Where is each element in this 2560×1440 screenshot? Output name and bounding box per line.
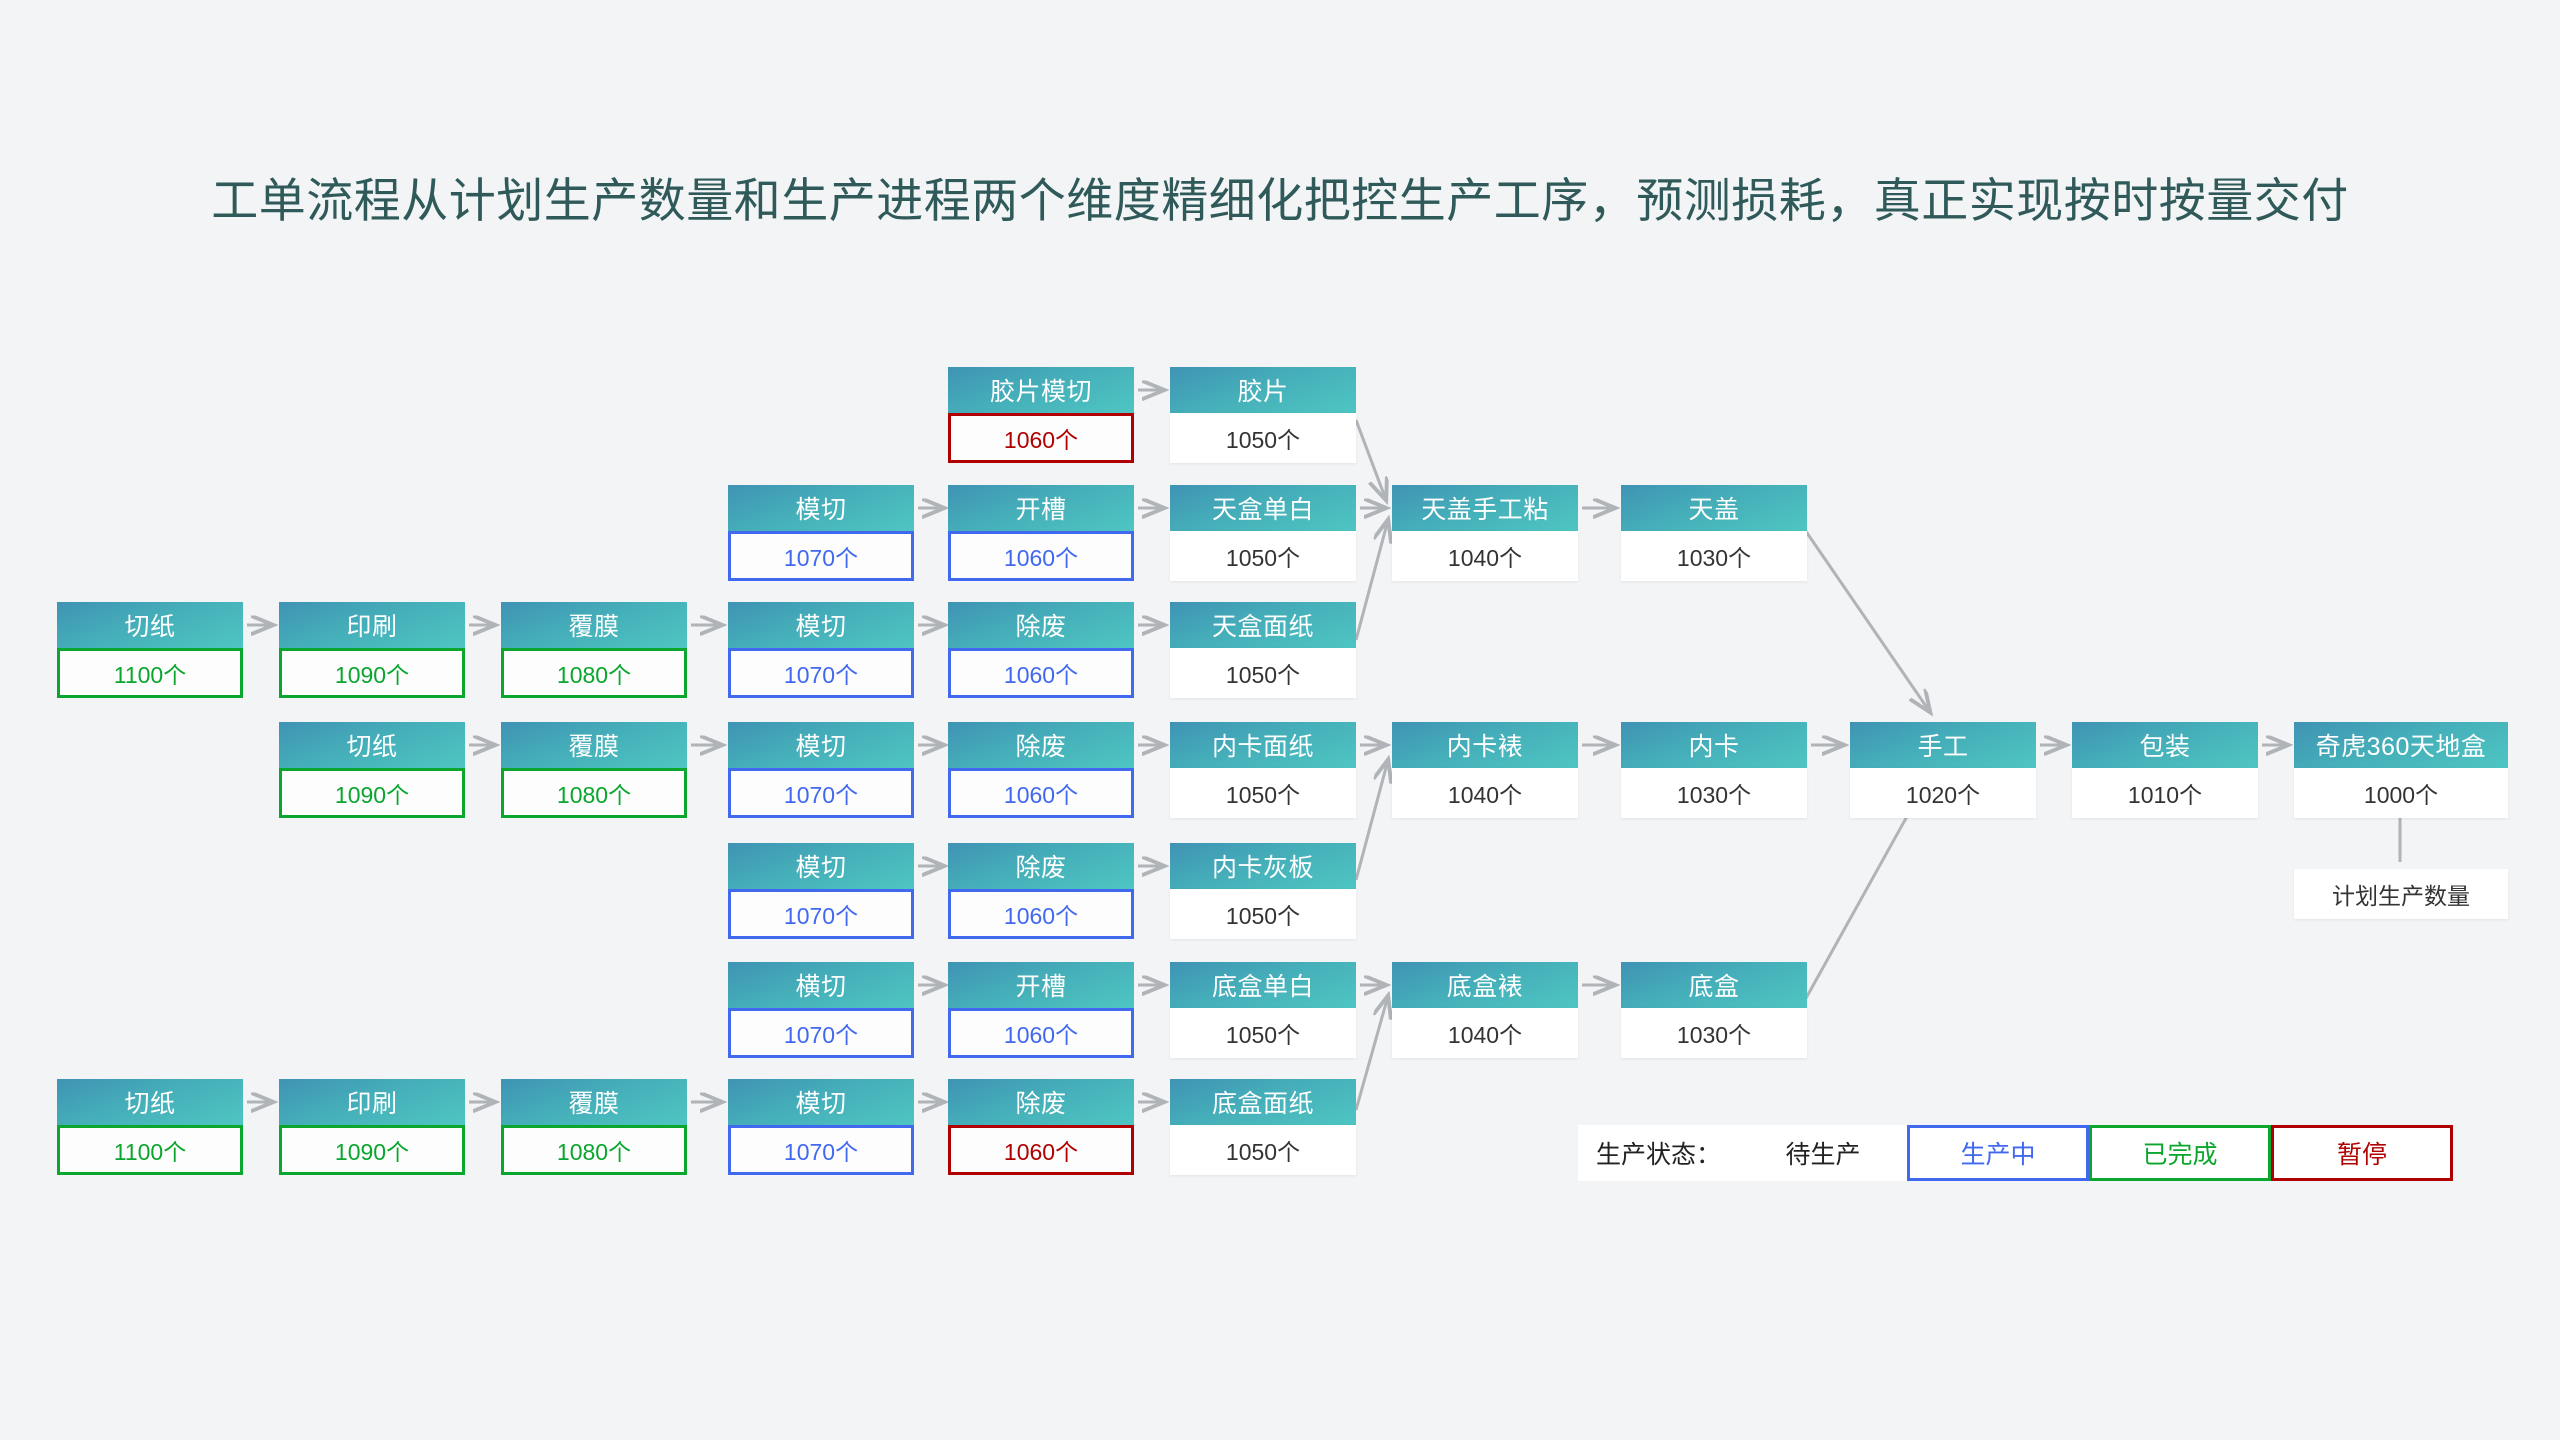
- process-node-qty: 1020个: [1850, 768, 2036, 818]
- process-node-qty: 1010个: [2072, 768, 2258, 818]
- process-node-qty: 1070个: [728, 1008, 914, 1058]
- process-node[interactable]: 覆膜1080个: [501, 1079, 687, 1175]
- process-node-label: 除废: [948, 843, 1134, 889]
- process-node-label: 模切: [728, 1079, 914, 1125]
- process-node-label: 内卡裱: [1392, 722, 1578, 768]
- process-node[interactable]: 天盖1030个: [1621, 485, 1807, 581]
- process-node-qty: 1060个: [948, 768, 1134, 818]
- process-node[interactable]: 天盒单白1050个: [1170, 485, 1356, 581]
- process-node[interactable]: 切纸1100个: [57, 602, 243, 698]
- process-node-qty: 1080个: [501, 648, 687, 698]
- process-node[interactable]: 除废1060个: [948, 1079, 1134, 1175]
- process-node-qty: 1080个: [501, 768, 687, 818]
- process-node[interactable]: 胶片模切1060个: [948, 367, 1134, 463]
- process-node[interactable]: 印刷1090个: [279, 602, 465, 698]
- process-node-label: 天盒单白: [1170, 485, 1356, 531]
- process-node-qty: 1050个: [1170, 1125, 1356, 1175]
- legend-item-pending[interactable]: 待生产: [1739, 1125, 1907, 1181]
- process-node[interactable]: 内卡面纸1050个: [1170, 722, 1356, 818]
- process-node-label: 奇虎360天地盒: [2294, 722, 2508, 768]
- process-node-qty: 1070个: [728, 1125, 914, 1175]
- process-node-label: 底盒面纸: [1170, 1079, 1356, 1125]
- process-node-label: 内卡灰板: [1170, 843, 1356, 889]
- process-node-qty: 1070个: [728, 648, 914, 698]
- process-node[interactable]: 底盒裱1040个: [1392, 962, 1578, 1058]
- process-node[interactable]: 模切1070个: [728, 485, 914, 581]
- process-node-label: 除废: [948, 722, 1134, 768]
- process-node[interactable]: 模切1070个: [728, 602, 914, 698]
- process-node-label: 底盒裱: [1392, 962, 1578, 1008]
- process-node-qty: 1050个: [1170, 1008, 1356, 1058]
- process-node[interactable]: 印刷1090个: [279, 1079, 465, 1175]
- process-node[interactable]: 底盒单白1050个: [1170, 962, 1356, 1058]
- process-node-qty: 1060个: [948, 889, 1134, 939]
- process-node-label: 天盖: [1621, 485, 1807, 531]
- process-node[interactable]: 开槽1060个: [948, 962, 1134, 1058]
- process-node-qty: 1040个: [1392, 1008, 1578, 1058]
- process-node-label: 天盖手工粘: [1392, 485, 1578, 531]
- process-node-qty: 1060个: [948, 531, 1134, 581]
- diagram-canvas: 工单流程从计划生产数量和生产进程两个维度精细化把控生产工序，预测损耗，真正实现按…: [0, 0, 2560, 1440]
- process-node-label: 模切: [728, 843, 914, 889]
- process-node-qty: 1030个: [1621, 768, 1807, 818]
- process-node[interactable]: 除废1060个: [948, 843, 1134, 939]
- process-node-label: 印刷: [279, 1079, 465, 1125]
- process-node-label: 切纸: [57, 1079, 243, 1125]
- process-node[interactable]: 内卡1030个: [1621, 722, 1807, 818]
- process-node-label: 模切: [728, 722, 914, 768]
- process-node-qty: 1080个: [501, 1125, 687, 1175]
- process-node-qty: 1070个: [728, 531, 914, 581]
- process-node[interactable]: 除废1060个: [948, 722, 1134, 818]
- process-node-label: 切纸: [279, 722, 465, 768]
- process-node-qty: 1100个: [57, 648, 243, 698]
- process-node-qty: 1070个: [728, 889, 914, 939]
- process-node-label: 内卡面纸: [1170, 722, 1356, 768]
- process-node[interactable]: 覆膜1080个: [501, 722, 687, 818]
- planned-qty-caption: 计划生产数量: [2294, 869, 2508, 919]
- process-node-label: 覆膜: [501, 722, 687, 768]
- process-node-label: 模切: [728, 485, 914, 531]
- process-node[interactable]: 底盒面纸1050个: [1170, 1079, 1356, 1175]
- process-node-label: 底盒单白: [1170, 962, 1356, 1008]
- process-node[interactable]: 切纸1090个: [279, 722, 465, 818]
- process-node-qty: 1090个: [279, 768, 465, 818]
- legend-title: 生产状态：: [1578, 1125, 1739, 1181]
- process-node-qty: 1060个: [948, 1008, 1134, 1058]
- process-node[interactable]: 天盒面纸1050个: [1170, 602, 1356, 698]
- process-node-label: 模切: [728, 602, 914, 648]
- process-node-label: 切纸: [57, 602, 243, 648]
- process-node-label: 开槽: [948, 962, 1134, 1008]
- process-node-label: 底盒: [1621, 962, 1807, 1008]
- process-node-qty: 1000个: [2294, 768, 2508, 818]
- process-node[interactable]: 横切1070个: [728, 962, 914, 1058]
- process-node-label: 横切: [728, 962, 914, 1008]
- process-node-qty: 1050个: [1170, 768, 1356, 818]
- page-title: 工单流程从计划生产数量和生产进程两个维度精细化把控生产工序，预测损耗，真正实现按…: [0, 172, 2560, 231]
- process-node-qty: 1090个: [279, 1125, 465, 1175]
- process-node-qty: 1040个: [1392, 531, 1578, 581]
- process-node[interactable]: 覆膜1080个: [501, 602, 687, 698]
- process-node[interactable]: 切纸1100个: [57, 1079, 243, 1175]
- process-node-label: 开槽: [948, 485, 1134, 531]
- process-node[interactable]: 内卡灰板1050个: [1170, 843, 1356, 939]
- process-node[interactable]: 模切1070个: [728, 843, 914, 939]
- process-node-qty: 1100个: [57, 1125, 243, 1175]
- process-node[interactable]: 模切1070个: [728, 1079, 914, 1175]
- process-node-qty: 1060个: [948, 1125, 1134, 1175]
- process-node-label: 内卡: [1621, 722, 1807, 768]
- process-node-qty: 1060个: [948, 648, 1134, 698]
- process-node-label: 印刷: [279, 602, 465, 648]
- process-node-qty: 1030个: [1621, 531, 1807, 581]
- process-node[interactable]: 模切1070个: [728, 722, 914, 818]
- process-node[interactable]: 胶片1050个: [1170, 367, 1356, 463]
- process-node-qty: 1050个: [1170, 413, 1356, 463]
- process-node[interactable]: 除废1060个: [948, 602, 1134, 698]
- process-node[interactable]: 内卡裱1040个: [1392, 722, 1578, 818]
- process-node-qty: 1030个: [1621, 1008, 1807, 1058]
- process-node[interactable]: 奇虎360天地盒1000个: [2294, 722, 2508, 818]
- planned-qty-caption-label: 计划生产数量: [2332, 877, 2470, 911]
- process-node-label: 覆膜: [501, 602, 687, 648]
- process-node[interactable]: 底盒1030个: [1621, 962, 1807, 1058]
- process-node[interactable]: 包装1010个: [2072, 722, 2258, 818]
- process-node-label: 胶片模切: [948, 367, 1134, 413]
- process-node-qty: 1050个: [1170, 889, 1356, 939]
- process-node-label: 手工: [1850, 722, 2036, 768]
- legend-item-paused[interactable]: 暂停: [2271, 1125, 2453, 1181]
- process-node[interactable]: 手工1020个: [1850, 722, 2036, 818]
- process-node-label: 覆膜: [501, 1079, 687, 1125]
- process-node-qty: 1050个: [1170, 648, 1356, 698]
- process-node-qty: 1050个: [1170, 531, 1356, 581]
- legend-item-done[interactable]: 已完成: [2089, 1125, 2271, 1181]
- process-node-qty: 1040个: [1392, 768, 1578, 818]
- status-legend: 生产状态： 待生产 生产中 已完成 暂停: [1578, 1125, 2453, 1181]
- process-node-qty: 1090个: [279, 648, 465, 698]
- process-node-label: 天盒面纸: [1170, 602, 1356, 648]
- process-node[interactable]: 天盖手工粘1040个: [1392, 485, 1578, 581]
- process-node-label: 除废: [948, 602, 1134, 648]
- process-node-qty: 1060个: [948, 413, 1134, 463]
- legend-item-active[interactable]: 生产中: [1907, 1125, 2089, 1181]
- process-node-qty: 1070个: [728, 768, 914, 818]
- process-node-label: 除废: [948, 1079, 1134, 1125]
- process-node-label: 胶片: [1170, 367, 1356, 413]
- process-node-label: 包装: [2072, 722, 2258, 768]
- process-node[interactable]: 开槽1060个: [948, 485, 1134, 581]
